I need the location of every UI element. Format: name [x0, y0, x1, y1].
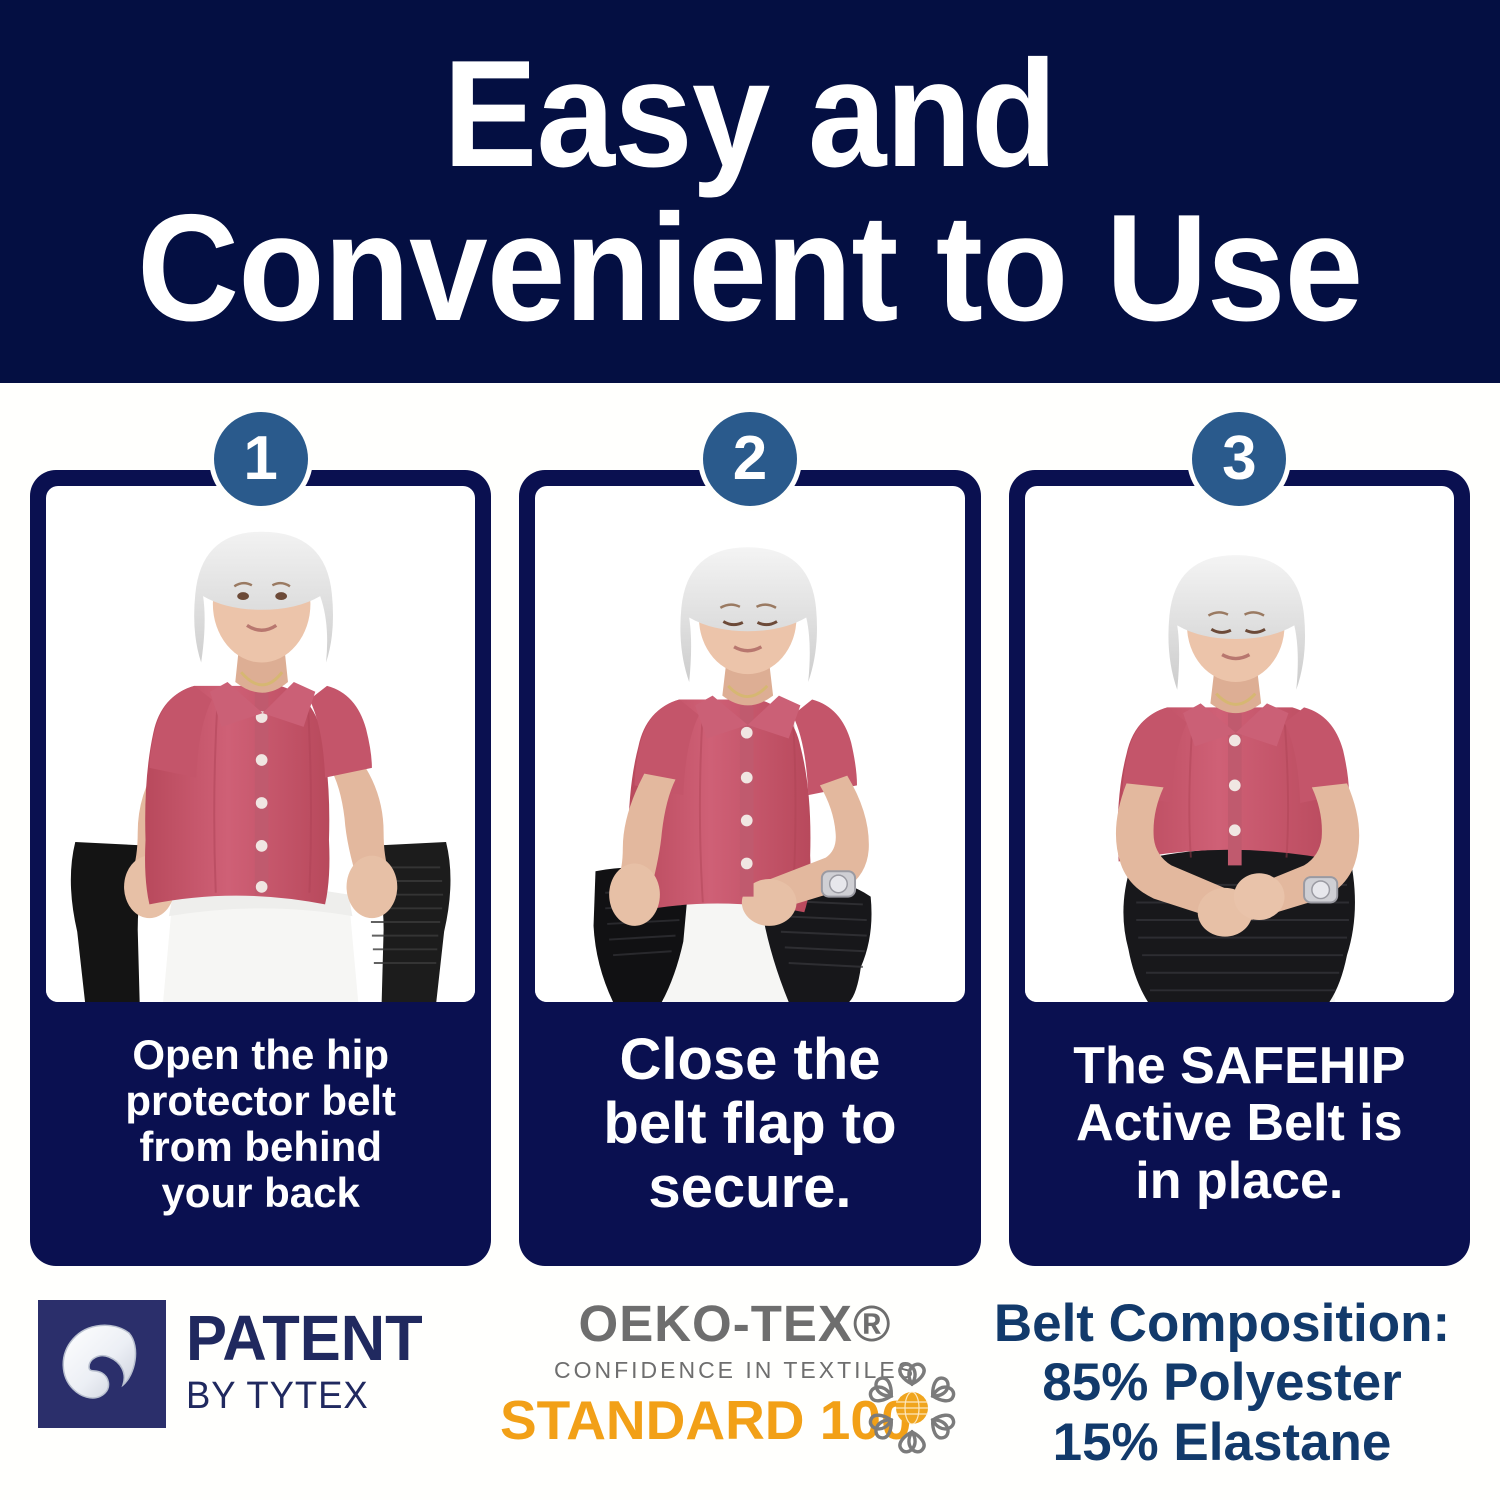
step-caption-1: Open the hip protector belt from behind …	[46, 1002, 475, 1256]
step-photo-3	[1025, 486, 1454, 1002]
header-banner: Easy and Convenient to Use	[0, 0, 1500, 383]
oeko-tex-flower-icon	[862, 1358, 962, 1458]
patent-main-text: PATENT	[186, 1308, 423, 1369]
woman-opening-belt-illustration	[46, 486, 475, 1002]
headline-line-2: Convenient to Use	[137, 195, 1362, 342]
headline-line-1: Easy and	[443, 41, 1056, 188]
belt-composition-title: Belt Composition:	[970, 1294, 1474, 1353]
step-number-badge-1: 1	[214, 412, 308, 506]
step-number-badge-2: 2	[703, 412, 797, 506]
step-caption-2: Close the belt flap to secure.	[535, 1002, 964, 1256]
step-number-badge-3: 3	[1192, 412, 1286, 506]
step-card-3: 3	[1009, 470, 1470, 1266]
step-photo-1	[46, 486, 475, 1002]
steps-row: 1	[30, 470, 1470, 1270]
patent-sub-text: BY TYTEX	[186, 1375, 423, 1418]
patent-by-tytex-logo: PATENT BY TYTEX	[0, 1280, 500, 1500]
step-card-2: 2	[519, 470, 980, 1266]
oeko-tex-logo: OEKO-TEX® CONFIDENCE IN TEXTILES STANDAR…	[500, 1280, 970, 1500]
belt-composition-block: Belt Composition: 85% Polyester 15% Elas…	[970, 1280, 1500, 1500]
step-caption-3: The SAFEHIP Active Belt is in place.	[1025, 1002, 1454, 1256]
belt-composition-line-1: 85% Polyester	[970, 1353, 1474, 1412]
footer-bar: PATENT BY TYTEX OEKO-TEX® CONFIDENCE IN …	[0, 1280, 1500, 1500]
oeko-tex-main-text: OEKO-TEX®	[500, 1294, 970, 1353]
belt-composition-line-2: 15% Elastane	[970, 1413, 1474, 1472]
step-card-1: 1	[30, 470, 491, 1266]
tytex-hip-pad-icon	[38, 1300, 166, 1428]
step-photo-2	[535, 486, 964, 1002]
infographic-page: Easy and Convenient to Use 1	[0, 0, 1500, 1500]
patent-wordmark: PATENT BY TYTEX	[186, 1300, 433, 1418]
hip-pad-glyph	[47, 1309, 157, 1419]
belt-in-place-illustration	[1025, 486, 1454, 1002]
woman-closing-belt-flap-illustration	[535, 486, 964, 1002]
